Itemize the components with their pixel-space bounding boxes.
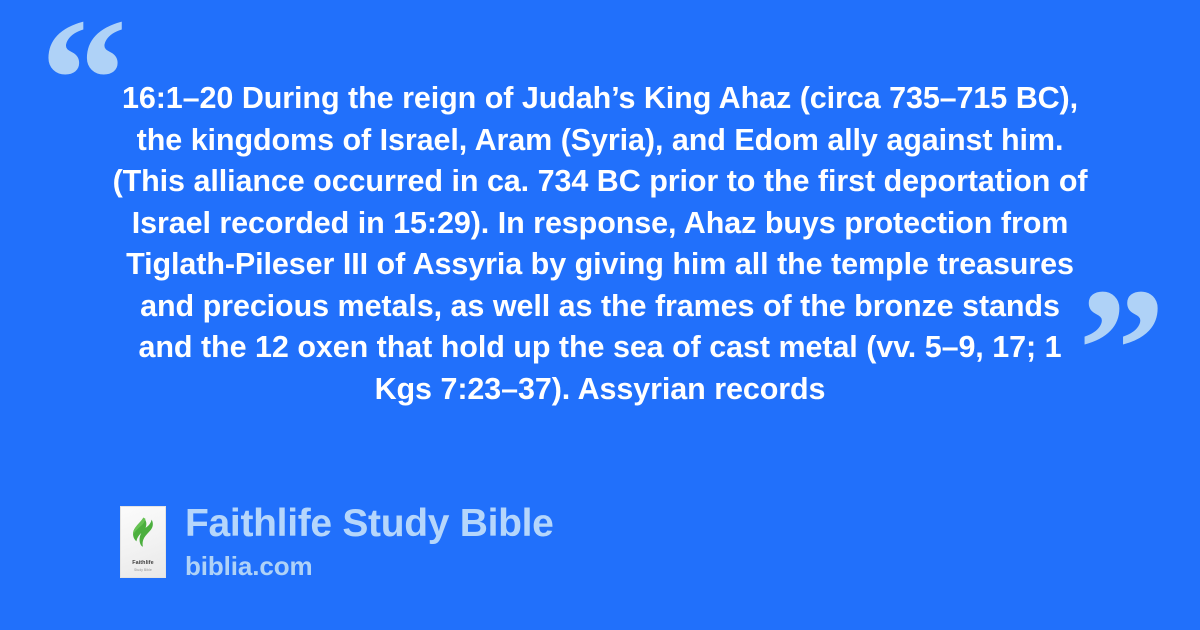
brand-footer[interactable]: Faithlife Study Bible Faithlife Study Bi… (120, 506, 554, 581)
brand-title: Faithlife Study Bible (185, 500, 554, 548)
closing-quotation-mark-icon: ” (1078, 262, 1166, 437)
brand-text-group: Faithlife Study Bible biblia.com (185, 500, 554, 581)
quote-block: “ 16:1–20 During the reign of Judah’s Ki… (0, 0, 1200, 430)
brand-url[interactable]: biblia.com (185, 551, 554, 581)
quote-text: 16:1–20 During the reign of Judah’s King… (110, 78, 1090, 410)
faithlife-book-cover-logo: Faithlife Study Bible (120, 506, 166, 578)
leaf-flame-icon (130, 517, 156, 547)
logo-caption: Faithlife (121, 561, 165, 566)
logo-subcaption: Study Bible (121, 569, 165, 572)
social-share-card: “ 16:1–20 During the reign of Judah’s Ki… (0, 0, 1200, 630)
